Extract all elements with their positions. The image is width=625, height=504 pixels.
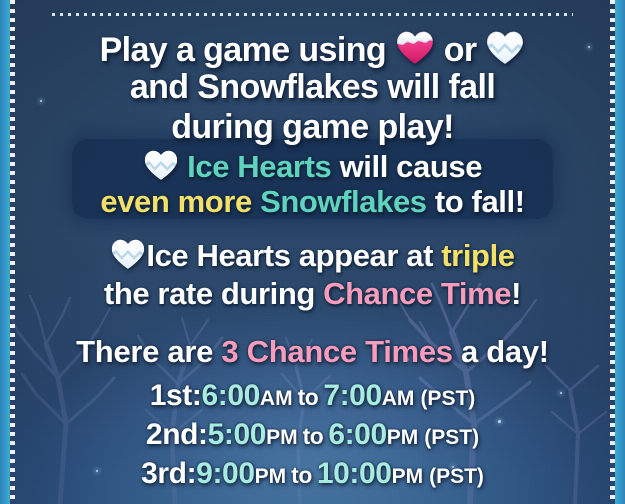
snow-capped-pink-heart-icon bbox=[395, 30, 435, 66]
chance-time-row-3-separator: to bbox=[286, 462, 317, 488]
chance-time-row-3-end-meridiem: PM bbox=[392, 465, 424, 488]
chance-times-heading: There are 3 Chance Times a day! bbox=[0, 336, 625, 367]
ice-hearts-panel-line-2: even more Snowflakes to fall! bbox=[0, 186, 625, 217]
chance-time-row-3-start: 9:00 bbox=[196, 457, 254, 490]
chance-time-row-3-timezone: (PST) bbox=[423, 465, 484, 488]
ice-hearts-panel-line-2-tail: to fall! bbox=[435, 184, 525, 219]
even-more-emphasis: even more bbox=[100, 184, 251, 219]
chance-times-heading-b: Chance Times bbox=[247, 334, 453, 369]
chance-time-row-2-end: 6:00 bbox=[328, 418, 386, 451]
chance-time-row-2-separator: to bbox=[298, 423, 329, 449]
banner-content: Play a game using bbox=[0, 0, 625, 504]
triple-rate-line-1-text: Ice Hearts appear at bbox=[146, 238, 433, 273]
chance-time-row-2-timezone: (PST) bbox=[418, 426, 479, 449]
ice-hearts-label: Ice Hearts bbox=[187, 149, 331, 184]
chance-time-row-3-start-meridiem: PM bbox=[255, 465, 287, 488]
chance-time-row-1-end-meridiem: AM bbox=[382, 387, 415, 410]
chance-time-row-3: 3rd:9:00PMto10:00PM(PST) bbox=[0, 459, 625, 489]
intro-line-3: during game play! bbox=[0, 110, 625, 144]
chance-time-label: Chance Time bbox=[323, 276, 511, 311]
chance-time-row-1-start: 6:00 bbox=[201, 379, 259, 412]
chance-time-row-1-timezone: (PST) bbox=[414, 387, 475, 410]
chance-time-row-3-end: 10:00 bbox=[317, 457, 392, 490]
chance-time-row-1-start-meridiem: AM bbox=[260, 387, 293, 410]
triple-rate-line-1: Ice Hearts appear at triple bbox=[0, 238, 625, 271]
chance-time-row-1-separator: to bbox=[293, 384, 324, 410]
snowflakes-label: Snowflakes bbox=[260, 184, 427, 219]
intro-line-1-text-b: or bbox=[444, 31, 477, 69]
chance-times-heading-a: There are bbox=[76, 334, 213, 369]
triple-rate-line-2-bang: ! bbox=[511, 276, 521, 311]
chance-time-row-2-start: 5:00 bbox=[208, 418, 266, 451]
chance-time-row-2-end-meridiem: PM bbox=[387, 426, 419, 449]
intro-line-2: and Snowflakes will fall bbox=[0, 70, 625, 104]
chance-time-row-2-ordinal: 2nd: bbox=[146, 418, 208, 451]
chance-time-row-1-ordinal: 1st: bbox=[150, 379, 202, 412]
chance-times-count: 3 bbox=[221, 334, 238, 369]
chance-times-heading-c: a day! bbox=[461, 334, 549, 369]
triple-rate-line-2: the rate during Chance Time! bbox=[0, 278, 625, 309]
triple-emphasis: triple bbox=[441, 238, 514, 273]
intro-line-1-text-a: Play a game using bbox=[100, 31, 386, 69]
ice-heart-icon bbox=[110, 238, 146, 271]
intro-line-1: Play a game using bbox=[0, 30, 625, 67]
chance-time-row-1: 1st:6:00AMto7:00AM(PST) bbox=[0, 381, 625, 411]
chance-time-row-1-end: 7:00 bbox=[323, 379, 381, 412]
ice-heart-icon bbox=[485, 30, 525, 66]
ice-heart-icon bbox=[143, 149, 179, 182]
chance-time-row-2-start-meridiem: PM bbox=[266, 426, 298, 449]
chance-time-row-3-ordinal: 3rd: bbox=[141, 457, 196, 490]
chance-time-row-2: 2nd:5:00PMto6:00PM(PST) bbox=[0, 420, 625, 450]
event-banner: Play a game using bbox=[0, 0, 625, 504]
triple-rate-line-2-text: the rate during bbox=[104, 276, 315, 311]
ice-hearts-panel-line-1: Ice Hearts will cause bbox=[0, 149, 625, 182]
ice-hearts-panel-line-1-tail: will cause bbox=[340, 149, 482, 184]
